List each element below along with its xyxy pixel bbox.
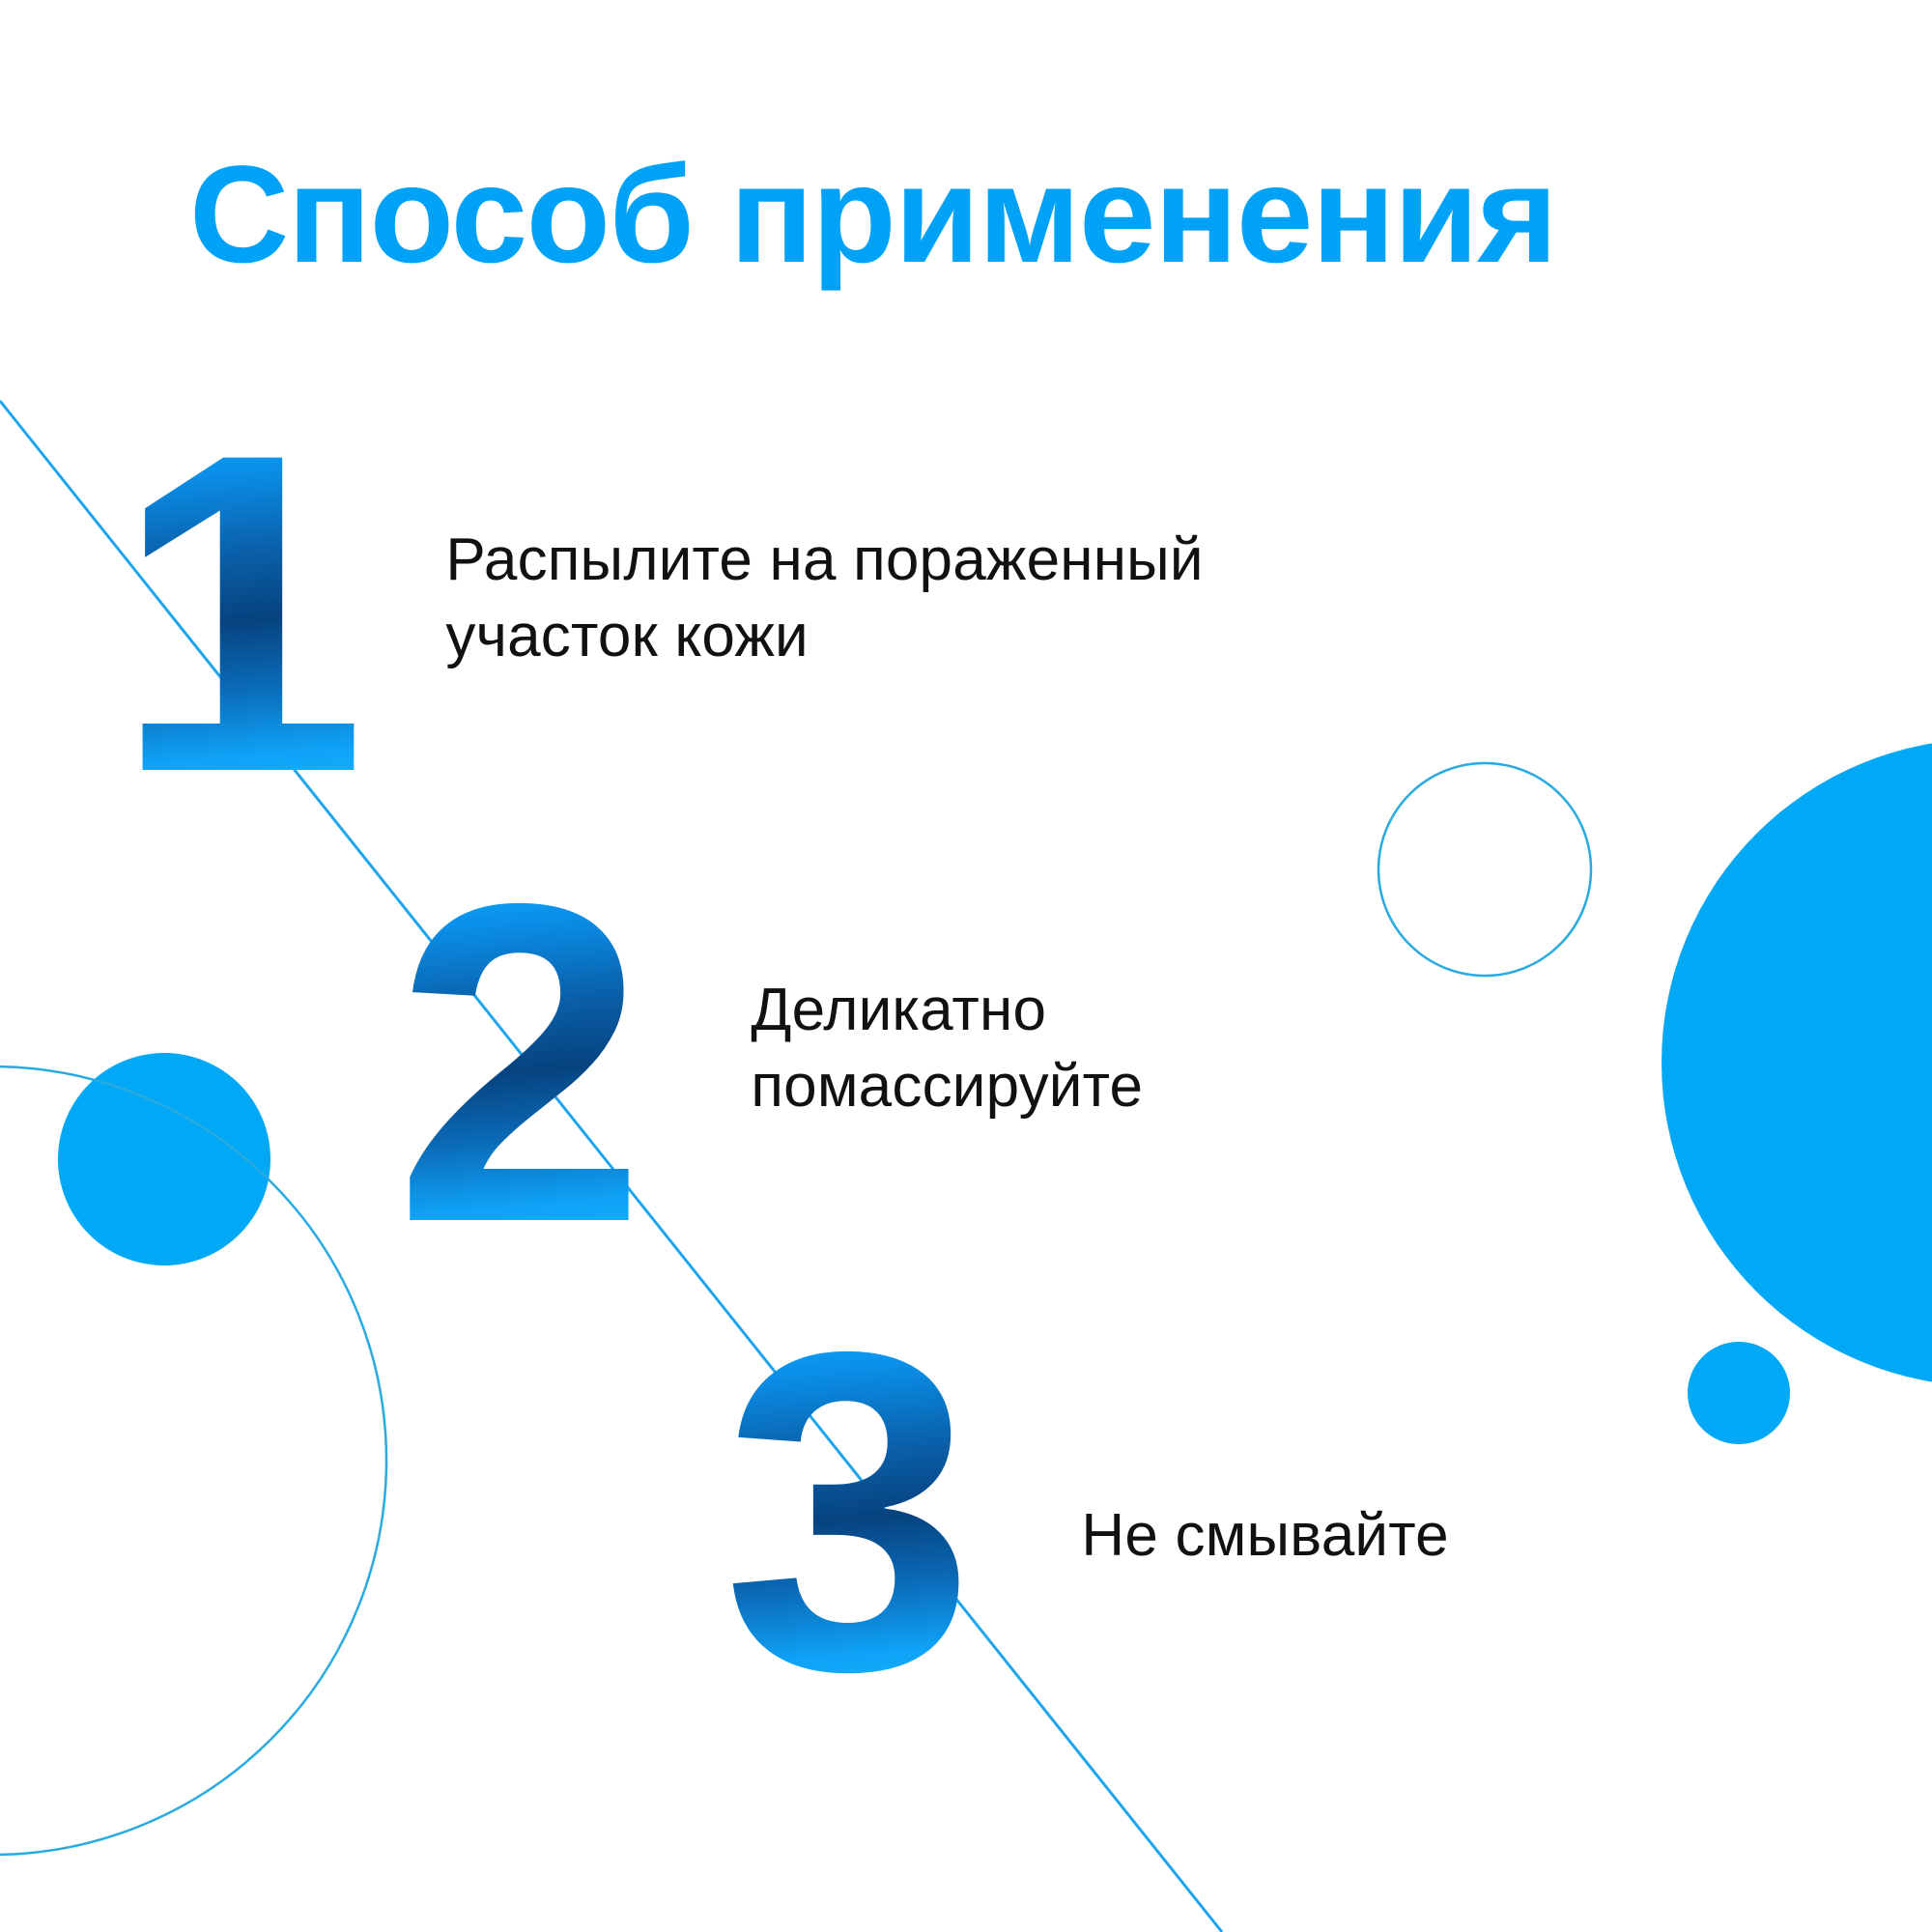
- step-number-3: 3: [723, 1335, 965, 1690]
- step-item-3: 3 Не смывайте: [723, 1335, 1449, 1690]
- step-number-1: 1: [114, 437, 356, 791]
- step-description-2: Деликатно помассируйте: [751, 972, 1143, 1125]
- large-outlined-circle-lower-left-icon: [0, 1066, 386, 1855]
- filled-circle-left-icon: [58, 1053, 270, 1265]
- step-number-2: 2: [394, 887, 637, 1241]
- step-item-2: 2 Деликатно помассируйте: [394, 887, 1143, 1241]
- infographic-canvas: Способ применения 1 Распылите на поражен…: [0, 0, 1932, 1932]
- step-item-1: 1 Распылите на пораженный участок кожи: [114, 437, 1204, 791]
- outlined-circle-upper-right-icon: [1378, 763, 1591, 976]
- small-filled-circle-right-icon: [1688, 1342, 1790, 1444]
- step-description-1: Распылите на пораженный участок кожи: [445, 522, 1203, 675]
- large-filled-circle-right-icon: [1662, 739, 1932, 1386]
- page-title: Способ применения: [189, 143, 1556, 288]
- step-description-3: Не смывайте: [1081, 1497, 1448, 1574]
